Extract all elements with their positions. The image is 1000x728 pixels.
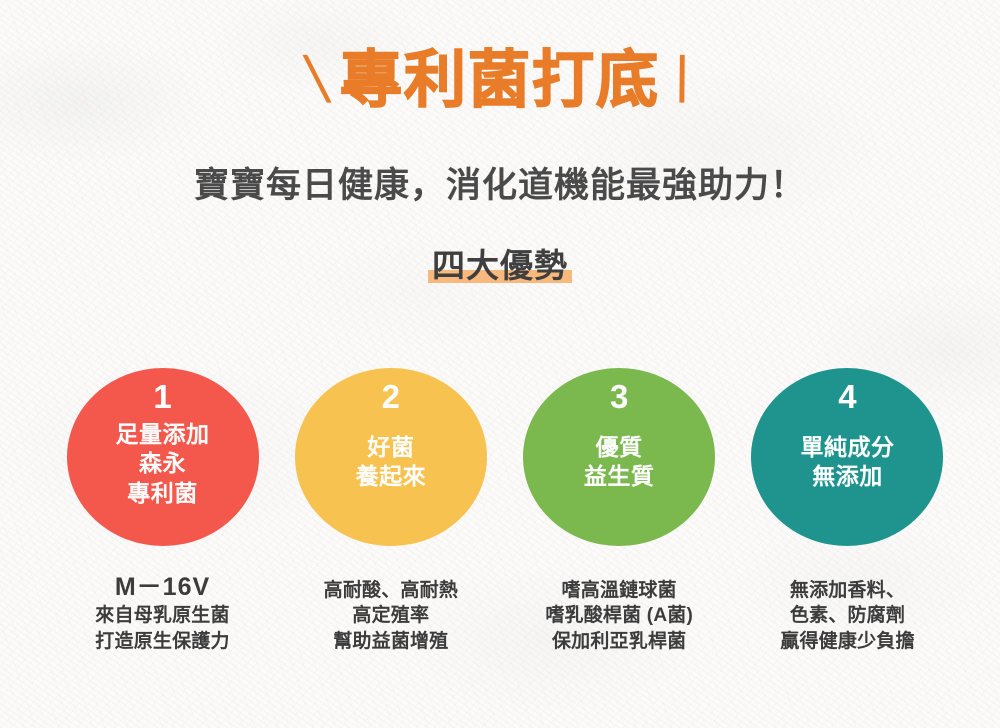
advantage-caption-line: 贏得健康少負擔 <box>780 629 914 654</box>
page-subtitle: 寶寶每日健康，消化道機能最強助力！ <box>0 157 1000 208</box>
slash-left-decoration: \ <box>301 48 334 113</box>
advantage-caption-line: 來自母乳原生菌 <box>95 603 229 628</box>
advantage-caption-line: 嗜乳酸桿菌 (A菌) <box>545 603 693 628</box>
advantage-title-line: 養起來 <box>356 462 427 491</box>
advantage-title-line: 好菌 <box>356 433 427 462</box>
advantage-caption-line: 色素、防腐劑 <box>780 603 914 628</box>
advantage-title-line: 森永 <box>116 449 210 478</box>
advantage-title-line: 益生質 <box>584 462 655 491</box>
advantage-title-line: 專利菌 <box>116 479 210 508</box>
section-label-wrapper: 四大優勢 <box>0 248 1000 284</box>
advantage-caption-line: 保加利亞乳桿菌 <box>545 629 693 654</box>
advantage-title-line: 單純成分 <box>800 433 894 462</box>
advantage-card-4[interactable]: 4 單純成分 無添加 無添加香料、 色素、防腐劑 贏得健康少負擔 <box>740 368 955 654</box>
advantage-caption-1: M－16V 來自母乳原生菌 打造原生保護力 <box>95 572 229 654</box>
advantage-number-4: 4 <box>838 380 856 415</box>
slash-right-decoration: / <box>666 48 699 113</box>
advantage-title-line: 足量添加 <box>116 420 210 449</box>
advantage-card-1[interactable]: 1 足量添加 森永 專利菌 M－16V 來自母乳原生菌 打造原生保護力 <box>55 368 270 654</box>
advantage-caption-4: 無添加香料、 色素、防腐劑 贏得健康少負擔 <box>780 578 914 654</box>
advantage-caption-line: 嗜高溫鏈球菌 <box>545 578 693 603</box>
advantage-caption-3: 嗜高溫鏈球菌 嗜乳酸桿菌 (A菌) 保加利亞乳桿菌 <box>545 578 693 654</box>
advantage-title-3: 優質 益生質 <box>584 433 655 492</box>
advantage-title-1: 足量添加 森永 專利菌 <box>116 420 210 508</box>
page-title: 專利菌打底 <box>340 50 660 112</box>
advantage-caption-line: 打造原生保護力 <box>95 629 229 654</box>
advantage-number-2: 2 <box>382 380 400 415</box>
advantage-bubble-4[interactable]: 4 單純成分 無添加 <box>751 368 943 546</box>
advantage-card-2[interactable]: 2 好菌 養起來 高耐酸、高耐熱 高定殖率 幫助益菌增殖 <box>283 368 498 654</box>
advantage-card-3[interactable]: 3 優質 益生質 嗜高溫鏈球菌 嗜乳酸桿菌 (A菌) 保加利亞乳桿菌 <box>512 368 727 654</box>
section-label-text: 四大優勢 <box>432 247 568 284</box>
advantages-row: 1 足量添加 森永 專利菌 M－16V 來自母乳原生菌 打造原生保護力 2 <box>55 368 955 654</box>
advantage-caption-line: 幫助益菌增殖 <box>324 629 458 654</box>
advantage-title-2: 好菌 養起來 <box>356 433 427 492</box>
advantage-title-line: 優質 <box>584 433 655 462</box>
advantage-caption-line: 高耐酸、高耐熱 <box>324 578 458 603</box>
advantage-title-line: 無添加 <box>800 462 894 491</box>
advantage-caption-line: 高定殖率 <box>324 603 458 628</box>
advantage-bubble-2[interactable]: 2 好菌 養起來 <box>295 368 487 546</box>
promo-page: \ 專利菌打底 / 寶寶每日健康，消化道機能最強助力！ 四大優勢 1 足量添加 … <box>0 0 1000 728</box>
advantage-caption-lead: M－16V <box>95 572 229 603</box>
section-label: 四大優勢 <box>428 248 572 284</box>
advantage-caption-2: 高耐酸、高耐熱 高定殖率 幫助益菌增殖 <box>324 578 458 654</box>
advantage-bubble-1[interactable]: 1 足量添加 森永 專利菌 <box>67 368 259 546</box>
advantage-number-1: 1 <box>153 380 171 415</box>
advantage-bubble-3[interactable]: 3 優質 益生質 <box>523 368 715 546</box>
advantage-title-4: 單純成分 無添加 <box>800 433 894 492</box>
advantage-caption-line: 無添加香料、 <box>780 578 914 603</box>
headline-row: \ 專利菌打底 / <box>0 38 1000 124</box>
advantage-number-3: 3 <box>610 380 628 415</box>
